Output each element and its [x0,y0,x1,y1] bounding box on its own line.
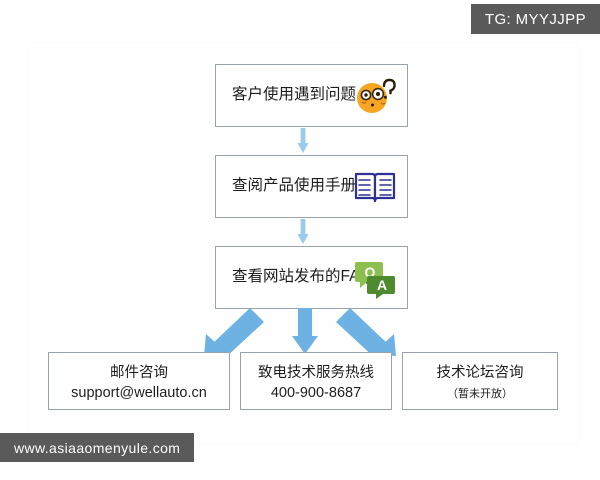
flow-step-2[interactable]: 查阅产品使用手册 [215,155,408,218]
connector-right-arrow [336,308,396,358]
outcome-email-title: 邮件咨询 [110,361,168,382]
flow-step-1[interactable]: 客户使用遇到问题 [215,64,408,127]
fan-out-connectors [0,300,600,360]
qa-bubbles-icon: Q A [351,254,399,302]
outcome-email-address: support@wellauto.cn [71,385,207,401]
connector-left-arrow [204,308,264,358]
flow-step-1-label: 客户使用遇到问题 [232,85,356,106]
watermark-bottom-left: www.asiaaomenyule.com [0,433,194,462]
svg-text:A: A [377,277,387,293]
outcome-forum[interactable]: 技术论坛咨询 （暂未开放） [402,352,558,410]
outcome-email[interactable]: 邮件咨询 support@wellauto.cn [48,352,230,410]
open-book-icon [351,163,399,211]
outcome-forum-title: 技术论坛咨询 [437,361,524,382]
outcome-forum-status: （暂未开放） [447,385,513,401]
outcome-hotline-number: 400-900-8687 [271,385,361,401]
flowchart-canvas: 客户使用遇到问题 查阅产品使用手册 [0,0,600,480]
outcome-hotline[interactable]: 致电技术服务热线 400-900-8687 [240,352,392,410]
confused-face-icon [351,72,399,120]
connector-center-arrow [292,308,318,354]
outcome-hotline-title: 致电技术服务热线 [258,361,374,382]
flow-step-2-label: 查阅产品使用手册 [232,176,356,197]
watermark-top-right: TG: MYYJJPP [471,4,600,34]
